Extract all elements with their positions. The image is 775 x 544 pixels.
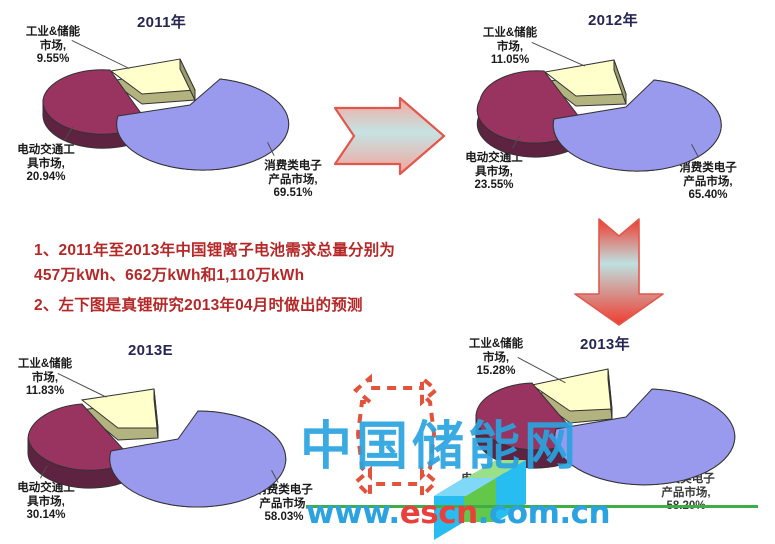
arrow-2012-to-2013: [568, 216, 670, 333]
chart-title-2013: 2013年: [580, 333, 630, 354]
chart-2013e: 2013E 工业&储能 市场, 11.83% 电动交通工 具市场, 30.14%…: [0, 330, 360, 541]
chart-title-2011: 2011年: [137, 11, 186, 32]
pie-graphic-2013: [470, 367, 760, 487]
chart-title-2012: 2012年: [588, 9, 638, 30]
pie-graphic-2012: [478, 60, 748, 180]
pie-graphic-2013e: [28, 388, 328, 503]
note-line-1: 1、2011年至2013年中国锂离子电池需求总量分别为 457万kWh、662万…: [34, 238, 464, 288]
chart-2012: 2012年 工业&储能 市场, 11.05% 电动交通工 具市场, 23.55%…: [430, 0, 775, 225]
pie-graphic-2011: [38, 58, 328, 178]
chart-title-2013e: 2013E: [128, 342, 173, 359]
slide-canvas: 2011年 工业&储能 市场, 9.55% 电动交通工 具市场, 20.94% …: [0, 0, 775, 541]
note-line-2: 2、左下图是真锂研究2013年04月时做出的预测: [34, 293, 464, 318]
chart-2013: 2013年 工业&储能 市场, 15.28% 电动交通工 具市场, 26.52%…: [430, 325, 775, 541]
